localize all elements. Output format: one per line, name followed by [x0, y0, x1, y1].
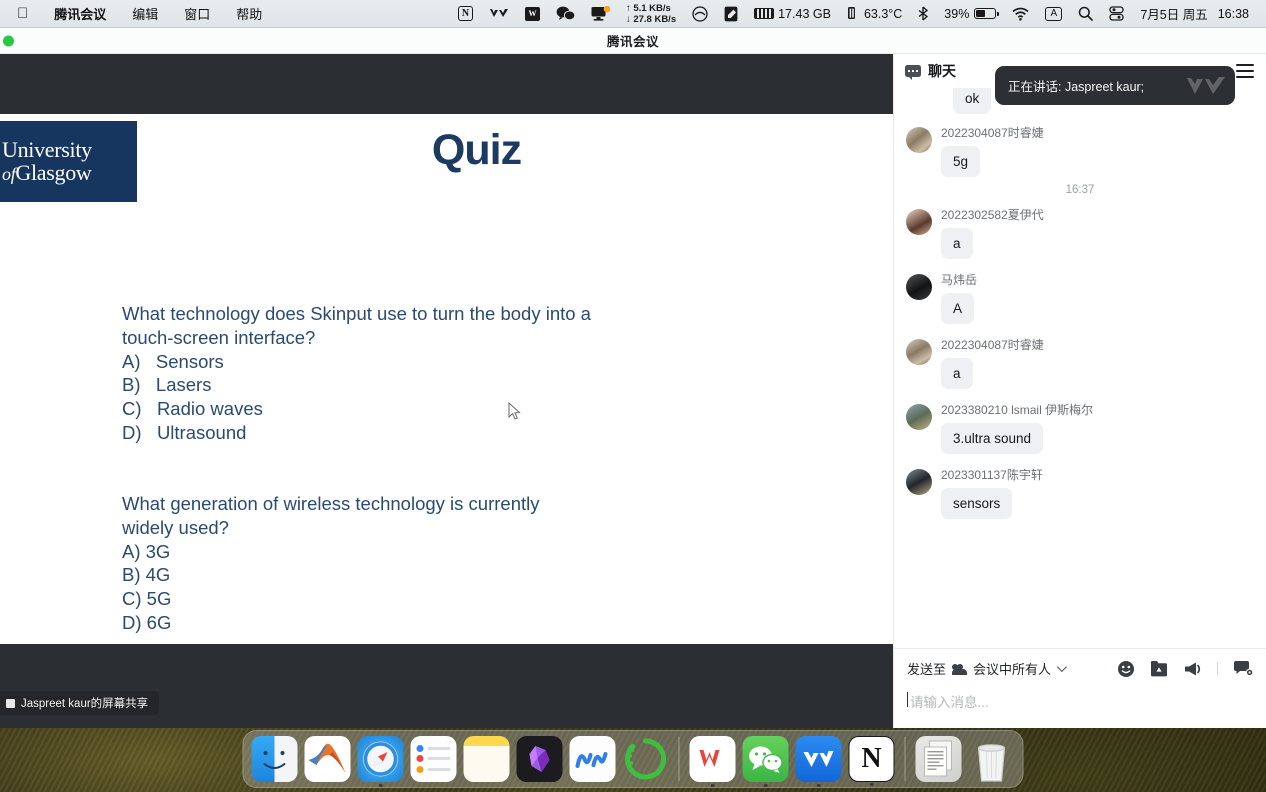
chat-message: 2022304087时睿婕 a — [906, 336, 1254, 389]
display-notification-icon[interactable] — [583, 0, 618, 28]
avatar[interactable] — [906, 339, 932, 365]
message-sender-name: 2022304087时睿婕 — [941, 336, 1254, 353]
window-title: 腾讯会议 — [607, 31, 659, 50]
control-center-icon-glyph — [1109, 6, 1124, 21]
chat-title: 聊天 — [928, 61, 956, 81]
running-indicator — [711, 784, 715, 788]
message-input[interactable]: 请输入消息... — [907, 691, 1253, 711]
loading-ring-icon — [625, 738, 667, 780]
chat-menu-icon[interactable] — [1236, 64, 1254, 78]
image-icon[interactable] — [1150, 660, 1168, 677]
stats-widget-icon[interactable] — [684, 0, 716, 28]
question-2-option-b: B) 4G — [122, 563, 592, 587]
dock-item-moo-app[interactable] — [570, 736, 616, 782]
message-bubble: 5g — [941, 146, 980, 177]
quiz-question-2: What generation of wireless technology i… — [122, 492, 592, 635]
macos-dock: N — [243, 730, 1024, 788]
message-sender-name: 2022302582夏伊代 — [941, 206, 1254, 223]
mouse-cursor — [508, 402, 521, 421]
running-indicator — [764, 784, 768, 788]
dock-item-tencent-meeting[interactable] — [796, 736, 842, 782]
safari-icon — [361, 739, 401, 779]
slide-title: Quiz — [0, 126, 893, 175]
shared-screen-area[interactable]: University ofGlasgow Quiz What technolog… — [0, 54, 893, 728]
wechat-icon — [748, 745, 784, 773]
screenshot-tool-icon[interactable] — [716, 0, 746, 28]
question-2-options: A) 3G B) 4G C) 5G D) 6G — [122, 540, 592, 635]
question-2-option-d: D) 6G — [122, 611, 592, 635]
participants-icon — [952, 663, 967, 675]
chat-input-area: 发送至 会议中所有人 — [894, 648, 1266, 728]
dock-item-crystal-app[interactable] — [517, 736, 563, 782]
avatar[interactable] — [906, 469, 932, 495]
screen-share-indicator: Jaspreet kaur的屏幕共享 — [0, 691, 159, 715]
memory-bar-icon — [754, 8, 774, 19]
dock-item-notion[interactable]: N — [849, 736, 895, 782]
message-sender-name: 马炜岳 — [941, 271, 1254, 288]
question-1-option-b: B) Lasers — [122, 373, 642, 397]
avatar[interactable] — [906, 274, 932, 300]
chevron-down-icon[interactable] — [1057, 662, 1067, 672]
question-1-option-a: A) Sensors — [122, 350, 642, 374]
dock-item-wechat[interactable] — [743, 736, 789, 782]
menubar-item-help[interactable]: 帮助 — [223, 0, 275, 28]
question-1-option-c: C) Radio waves — [122, 397, 642, 421]
dock-item-trash[interactable] — [969, 736, 1015, 782]
notion-menubar-icon[interactable]: N — [450, 0, 481, 28]
menubar-item-edit[interactable]: 编辑 — [119, 0, 171, 28]
network-up-label: ↑ 5.1 KB/s — [626, 3, 676, 14]
message-bubble: a — [941, 358, 973, 389]
tencent-meeting-window: 腾讯会议 University ofGlasgow Quiz What tech… — [0, 28, 1266, 728]
chat-message: 2023380210 lsmail 伊斯梅尔 3.ultra sound — [906, 401, 1254, 454]
dock-divider — [679, 737, 680, 781]
speaking-toast: 正在讲话: Jaspreet kaur; — [995, 66, 1235, 105]
documents-icon — [921, 739, 957, 779]
send-to-label: 发送至 — [907, 659, 946, 678]
dock-item-wps-office[interactable] — [690, 736, 736, 782]
menubar-app-name[interactable]: 腾讯会议 — [41, 0, 119, 28]
running-indicator — [379, 784, 383, 788]
question-2-text: What generation of wireless technology i… — [122, 492, 592, 540]
chat-message: 马炜岳 A — [906, 271, 1254, 324]
chat-settings-icon[interactable] — [1233, 660, 1253, 677]
message-bubble: 3.ultra sound — [941, 423, 1043, 454]
crystal-icon — [526, 744, 554, 774]
wps-menubar-icon[interactable]: W — [517, 0, 548, 28]
trash-icon — [975, 740, 1009, 782]
spotlight-search-icon[interactable] — [1070, 0, 1101, 28]
search-icon — [1078, 6, 1093, 21]
tencent-meeting-watermark-icon — [1185, 74, 1227, 98]
question-2-option-a: A) 3G — [122, 540, 592, 564]
memory-value: 17.43 GB — [778, 7, 831, 21]
wechat-icon-glyph — [556, 6, 575, 21]
message-sender-name: 2023380210 lsmail 伊斯梅尔 — [941, 401, 1254, 418]
apple-icon[interactable]:  — [10, 0, 41, 28]
capture-icon — [724, 6, 738, 22]
network-speed-indicator[interactable]: ↑ 5.1 KB/s ↓ 27.8 KB/s — [618, 0, 684, 28]
wps-icon-glyph: W — [525, 7, 540, 21]
chat-timestamp: 16:37 — [906, 184, 1254, 196]
chat-message: 2022302582夏伊代 a — [906, 206, 1254, 259]
wps-icon — [698, 747, 728, 771]
chat-message: 2023301137陈宇轩 sensors — [906, 466, 1254, 519]
input-source-label: A — [1045, 7, 1062, 21]
screen-share-label: Jaspreet kaur的屏幕共享 — [21, 695, 148, 711]
memory-indicator[interactable]: 17.43 GB — [746, 0, 839, 28]
announcement-icon[interactable] — [1183, 661, 1202, 677]
screen-icon — [6, 699, 15, 708]
notion-icon-glyph: N — [458, 6, 473, 21]
emoji-icon[interactable] — [1117, 660, 1135, 678]
wifi-icon[interactable] — [1004, 0, 1037, 28]
dock-item-finder[interactable] — [252, 736, 298, 782]
dock-item-matlab[interactable] — [305, 736, 351, 782]
thermometer-icon — [847, 6, 859, 21]
question-1-option-d: D) Ultrasound — [122, 421, 642, 445]
menubar-date[interactable]: 7月5日 周五 — [1132, 0, 1215, 28]
temperature-indicator[interactable]: 63.3°C — [839, 0, 910, 28]
bluetooth-icon[interactable] — [910, 0, 936, 28]
battery-indicator[interactable]: 39% — [936, 0, 1004, 28]
menubar-item-window[interactable]: 窗口 — [171, 0, 223, 28]
dock-item-reminders[interactable] — [411, 736, 457, 782]
moo-icon — [576, 746, 610, 772]
dock-item-safari[interactable] — [358, 736, 404, 782]
temperature-value: 63.3°C — [864, 7, 902, 21]
message-bubble: sensors — [941, 488, 1012, 519]
wechat-menubar-icon[interactable] — [548, 0, 583, 28]
presentation-slide: University ofGlasgow Quiz What technolog… — [0, 114, 893, 644]
tencent-meeting-icon — [802, 748, 836, 770]
quiz-question-1: What technology does Skinput use to turn… — [122, 302, 642, 445]
message-sender-name: 2022304087时睿婕 — [941, 124, 1254, 141]
question-1-options: A) Sensors B) Lasers C) Radio waves D) U… — [122, 350, 642, 445]
dock-item-loading-ring[interactable] — [623, 736, 669, 782]
avatar[interactable] — [906, 209, 932, 235]
partial-message-bubble: ok — [953, 88, 991, 114]
send-to-target[interactable]: 会议中所有人 — [973, 659, 1051, 678]
notion-icon: N — [861, 743, 881, 775]
chat-message-list[interactable]: ok 2022304087时睿婕 5g 16:37 2022302582夏伊代 … — [894, 88, 1266, 648]
battery-icon — [974, 8, 996, 19]
chat-message: 2022304087时睿婕 5g — [906, 124, 1254, 177]
question-2-option-c: C) 5G — [122, 587, 592, 611]
menubar-clock[interactable]: 16:38 — [1216, 0, 1257, 28]
window-titlebar: 腾讯会议 — [0, 28, 1266, 54]
avatar[interactable] — [906, 404, 932, 430]
tencent-meeting-icon-glyph — [489, 7, 509, 20]
dock-divider — [905, 737, 906, 781]
chat-panel: 聊天 正在讲话: Jaspreet kaur; ok 2022304087时睿婕 — [893, 54, 1266, 728]
avatar[interactable] — [906, 127, 932, 153]
gauge-icon — [692, 6, 708, 22]
toolbar-divider — [1217, 662, 1218, 676]
chat-icon — [905, 65, 921, 77]
display-icon-glyph — [591, 6, 610, 21]
control-center-icon[interactable] — [1101, 0, 1132, 28]
bluetooth-icon-glyph — [918, 6, 928, 21]
battery-percent: 39% — [944, 7, 969, 21]
speaking-toast-text: 正在讲话: Jaspreet kaur; — [1008, 76, 1144, 95]
dock-item-documents-stack[interactable] — [916, 736, 962, 782]
finder-icon — [252, 736, 298, 782]
message-bubble: a — [941, 228, 973, 259]
dock-item-notes[interactable] — [464, 736, 510, 782]
message-bubble: A — [941, 293, 974, 324]
running-indicator — [817, 784, 821, 788]
tencent-meeting-menubar-icon[interactable] — [481, 0, 517, 28]
send-to-row: 发送至 会议中所有人 — [907, 659, 1253, 678]
wifi-icon-glyph — [1012, 7, 1029, 21]
message-sender-name: 2023301137陈宇轩 — [941, 466, 1254, 483]
network-down-label: ↓ 27.8 KB/s — [626, 14, 676, 25]
running-indicator — [870, 783, 874, 787]
question-1-text: What technology does Skinput use to turn… — [122, 302, 642, 350]
macos-menubar:  腾讯会议 编辑 窗口 帮助 N W — [0, 0, 1266, 28]
input-source-indicator[interactable]: A — [1037, 0, 1070, 28]
window-status-dot[interactable] — [3, 35, 14, 46]
matlab-icon — [306, 737, 350, 781]
